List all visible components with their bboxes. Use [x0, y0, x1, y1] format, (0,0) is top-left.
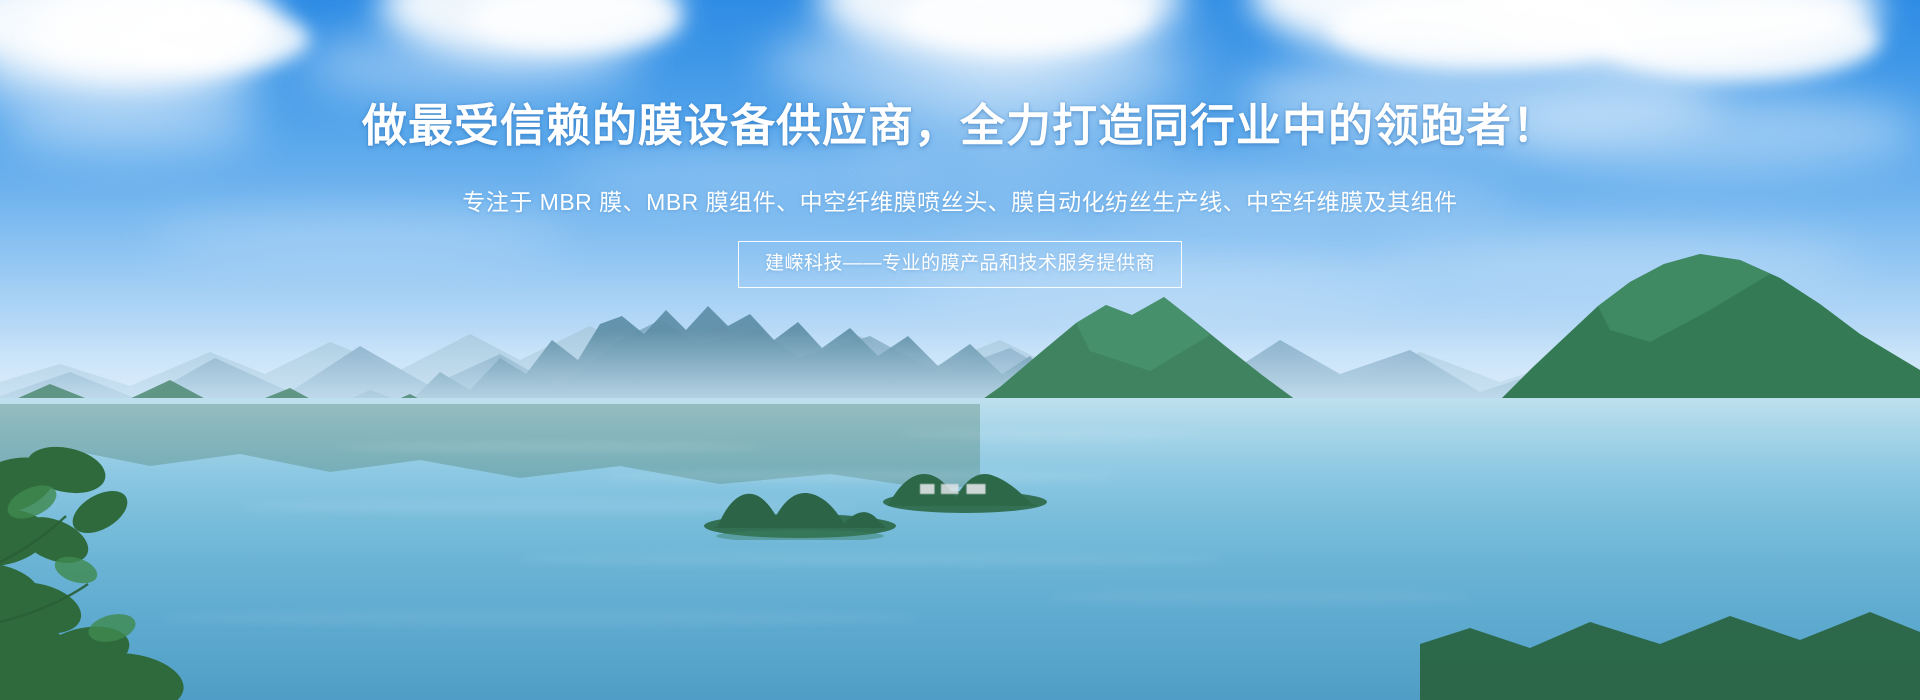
- hero-banner: 做最受信赖的膜设备供应商，全力打造同行业中的领跑者！ 专注于 MBR 膜、MBR…: [0, 0, 1920, 700]
- hero-headline: 做最受信赖的膜设备供应商，全力打造同行业中的领跑者！: [0, 98, 1920, 154]
- hero-tagline-box: 建嵘科技——专业的膜产品和技术服务提供商: [738, 241, 1182, 288]
- hero-text-layer: 做最受信赖的膜设备供应商，全力打造同行业中的领跑者！ 专注于 MBR 膜、MBR…: [0, 0, 1920, 700]
- hero-subheadline: 专注于 MBR 膜、MBR 膜组件、中空纤维膜喷丝头、膜自动化纺丝生产线、中空纤…: [0, 186, 1920, 218]
